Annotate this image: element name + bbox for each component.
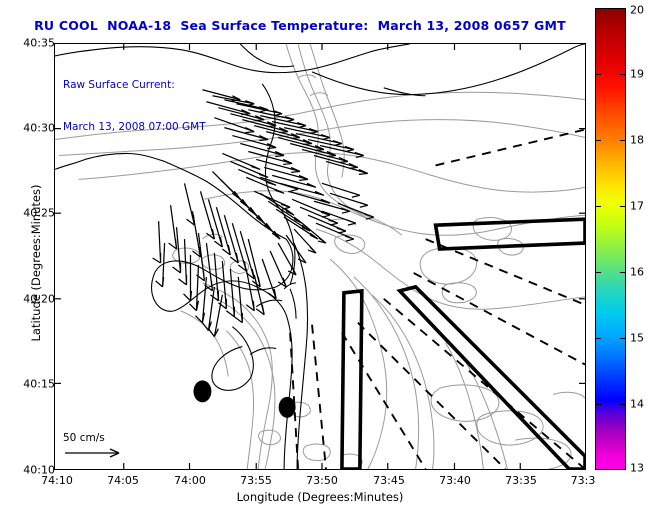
station-marker: [279, 397, 296, 418]
y-axis-label: Latitude (Degrees:Minutes): [29, 163, 43, 363]
annotation-block: Raw Surface Current: March 13, 2008 07:0…: [63, 50, 206, 162]
map-plot-area[interactable]: Raw Surface Current: March 13, 2008 07:0…: [54, 43, 586, 470]
colorbar-tick: [620, 404, 626, 405]
x-tick-label: 73:3: [571, 474, 596, 487]
colorbar-tick: [620, 338, 626, 339]
x-tick-label: 73:55: [240, 474, 272, 487]
vector-cluster-mid: [212, 171, 373, 241]
colorbar-tick: [595, 74, 601, 75]
colorbar-tick: [595, 140, 601, 141]
x-tick-label: 73:35: [505, 474, 537, 487]
y-tick-label: 40:30: [23, 122, 55, 135]
colorbar-tick-label: 17: [630, 200, 644, 213]
colorbar-tick: [620, 206, 626, 207]
colorbar-tick: [595, 404, 601, 405]
x-tick-label: 73:40: [439, 474, 471, 487]
shipping-lane-polygons: [342, 219, 585, 469]
x-tick-label: 74:05: [107, 474, 139, 487]
x-axis-label: Longitude (Degrees:Minutes): [54, 490, 586, 504]
colorbar-tick: [620, 272, 626, 273]
y-tick-label: 40:35: [23, 37, 55, 50]
y-tick-label: 40:15: [23, 378, 55, 391]
colorbar-tick: [620, 74, 626, 75]
colorbar-tick-label: 13: [630, 462, 644, 475]
colorbar-tick-label: 18: [630, 134, 644, 147]
dashed-transect-lines: [290, 130, 585, 469]
page-title: RU COOL NOAA-18 Sea Surface Temperature:…: [0, 18, 600, 33]
arrow-right-icon: [63, 445, 125, 459]
colorbar-tick-label: 14: [630, 398, 644, 411]
colorbar-tick-label: 16: [630, 266, 644, 279]
colorbar-tick-label: 15: [630, 332, 644, 345]
vector-scale-label: 50 cm/s: [63, 432, 125, 444]
annotation-line-1: Raw Surface Current:: [63, 78, 206, 92]
x-tick-label: 74:10: [41, 474, 73, 487]
sst-map-figure: RU COOL NOAA-18 Sea Surface Temperature:…: [0, 0, 651, 518]
x-tick-label: 73:50: [306, 474, 338, 487]
x-tick-label: 74:00: [174, 474, 206, 487]
annotation-line-2: March 13, 2008 07:00 GMT: [63, 120, 206, 134]
colorbar-tick: [595, 338, 601, 339]
shipping-lane-polygon-vertical: [342, 291, 362, 469]
colorbar-tick-label: 19: [630, 68, 644, 81]
colorbar-tick: [595, 272, 601, 273]
colorbar-tick-label: 20: [630, 4, 644, 17]
station-marker: [193, 380, 211, 402]
colorbar-tick: [595, 206, 601, 207]
x-tick-label: 73:45: [373, 474, 405, 487]
vector-scale-key: 50 cm/s: [63, 432, 125, 462]
temperature-colorbar[interactable]: [595, 8, 626, 470]
station-markers: [193, 380, 295, 417]
colorbar-tick: [620, 140, 626, 141]
